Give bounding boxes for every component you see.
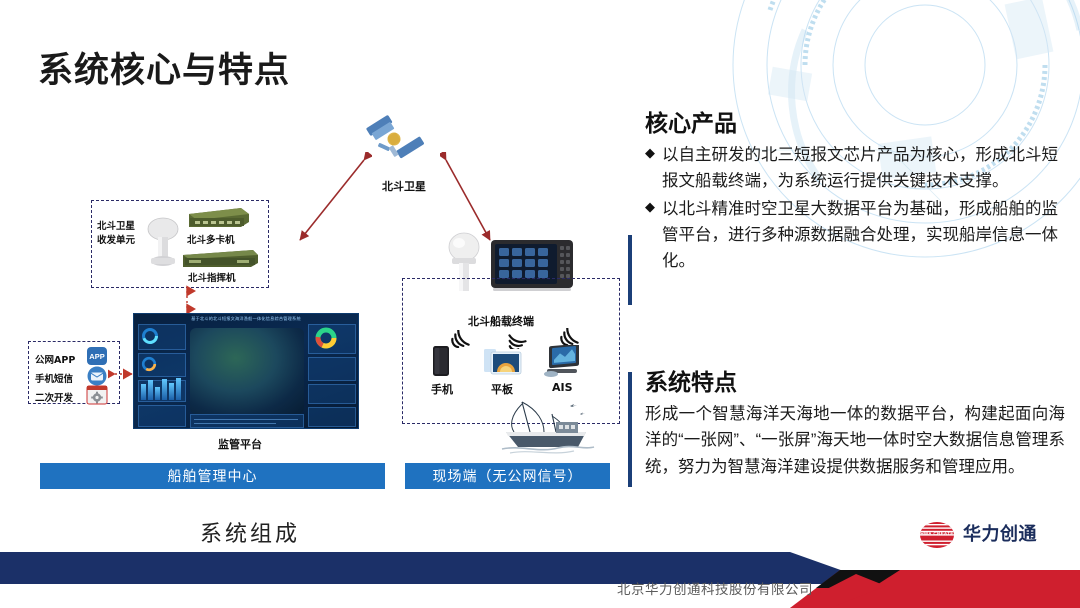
onboard-terminal-label: 北斗船载终端 [468, 313, 534, 329]
svg-text:APP: APP [89, 352, 104, 361]
dashboard-row [194, 423, 276, 424]
satellite-unit-label-line2: 收发单元 [97, 232, 135, 246]
dashboard-bar [162, 379, 167, 400]
system-features-accent-bar [628, 372, 632, 487]
dashboard-bar [155, 387, 160, 400]
multicard-device-icon [185, 205, 251, 231]
bullet-diamond-icon: ◆ [645, 196, 655, 219]
core-product-heading: 核心产品 [645, 104, 1065, 138]
app-row-label-1: 手机短信 [35, 371, 73, 385]
slide-canvas: 系统核心与特点 北斗卫星 [0, 0, 1080, 608]
gear-icon [85, 385, 109, 405]
dashboard-donut [141, 327, 159, 345]
satellite-unit-label-line1: 北斗卫星 [97, 218, 135, 232]
dashboard-panel [138, 405, 186, 427]
multicard-label: 北斗多卡机 [187, 232, 235, 246]
dashboard-bar [176, 378, 181, 400]
system-features-heading: 系统特点 [645, 363, 1065, 397]
footer-company-name: 北京华力创通科技股份有限公司 [617, 578, 813, 598]
band-label: 现场端（无公网信号） [433, 466, 583, 486]
core-product-bullet-1: ◆ 以北斗精准时空卫星大数据平台为基础，形成船舶的监管平台，进行多种源数据融合处… [645, 196, 1065, 274]
device-label-phone: 手机 [431, 381, 453, 397]
dashboard-map [190, 328, 304, 414]
wifi-signal-icon [450, 330, 472, 348]
footer-band [0, 540, 1080, 608]
band-label: 船舶管理中心 [168, 466, 258, 486]
wifi-signal-icon [559, 328, 581, 346]
bullet-diamond-icon: ◆ [645, 142, 655, 165]
fishing-boat-illustration [500, 392, 596, 458]
app-icon: APP [85, 346, 109, 366]
arrow-equipment-to-dashboard [178, 284, 196, 316]
logo-chinese-text: 华力创通 [963, 520, 1037, 546]
arrow-satellite-to-center [292, 152, 372, 248]
dashboard-caption: 监管平台 [218, 436, 262, 452]
logo-english-text: HWA CREATE [918, 531, 956, 536]
app-row-label-2: 二次开发 [35, 390, 73, 404]
dashboard-pie [315, 327, 337, 349]
app-row-label-0: 公网APP [35, 352, 75, 366]
commander-device-icon [181, 248, 259, 270]
tablet-icon [483, 348, 523, 378]
dashboard-screen-title: 基于北斗的北斗短报文海洋渔船一体化信息综合管理系统 [134, 316, 358, 322]
core-product-block: 核心产品 ◆ 以自主研发的北三短报文芯片产品为核心，形成北斗短报文船载终端，为系… [645, 104, 1065, 274]
dashboard-panel [308, 407, 356, 427]
commander-label: 北斗指挥机 [188, 270, 236, 284]
satellite-label: 北斗卫星 [382, 178, 426, 194]
dome-antenna-icon [146, 213, 180, 269]
dashboard-panel [190, 414, 304, 428]
system-features-block: 系统特点 形成一个智慧海洋天海地一体的数据平台，构建起面向海洋的“一张网”、“一… [645, 363, 1065, 480]
company-logo: HWA CREATE 华力创通 [918, 518, 1037, 548]
page-title: 系统核心与特点 [38, 42, 290, 93]
monitoring-dashboard-screenshot: 基于北斗的北斗短报文海洋渔船一体化信息综合管理系统 [133, 313, 359, 429]
band-onsite-no-public-network: 现场端（无公网信号） [405, 463, 610, 489]
core-product-bullet-text: 以北斗精准时空卫星大数据平台为基础，形成船舶的监管平台，进行多种源数据融合处理，… [662, 196, 1065, 274]
ais-icon [541, 345, 585, 379]
logo-dome-icon: HWA CREATE [918, 518, 956, 548]
dashboard-bar [169, 383, 174, 400]
dashboard-panel [308, 384, 356, 404]
system-features-paragraph: 形成一个智慧海洋天海地一体的数据平台，构建起面向海洋的“一张网”、“一张屏”海天… [645, 401, 1065, 480]
core-product-accent-bar [628, 235, 632, 305]
dashboard-bar [141, 384, 146, 400]
wifi-signal-icon [505, 333, 527, 349]
dashboard-donut [141, 356, 157, 372]
dashboard-row [194, 419, 298, 420]
phone-icon [431, 345, 451, 377]
dashboard-panel [308, 357, 356, 381]
core-product-bullet-0: ◆ 以自主研发的北三短报文芯片产品为核心，形成北斗短报文船载终端，为系统运行提供… [645, 142, 1065, 194]
sms-icon [85, 366, 109, 386]
band-ship-management-center: 船舶管理中心 [40, 463, 385, 489]
dashboard-bar [148, 380, 153, 400]
core-product-bullet-text: 以自主研发的北三短报文芯片产品为核心，形成北斗短报文船载终端，为系统运行提供关键… [662, 142, 1065, 194]
